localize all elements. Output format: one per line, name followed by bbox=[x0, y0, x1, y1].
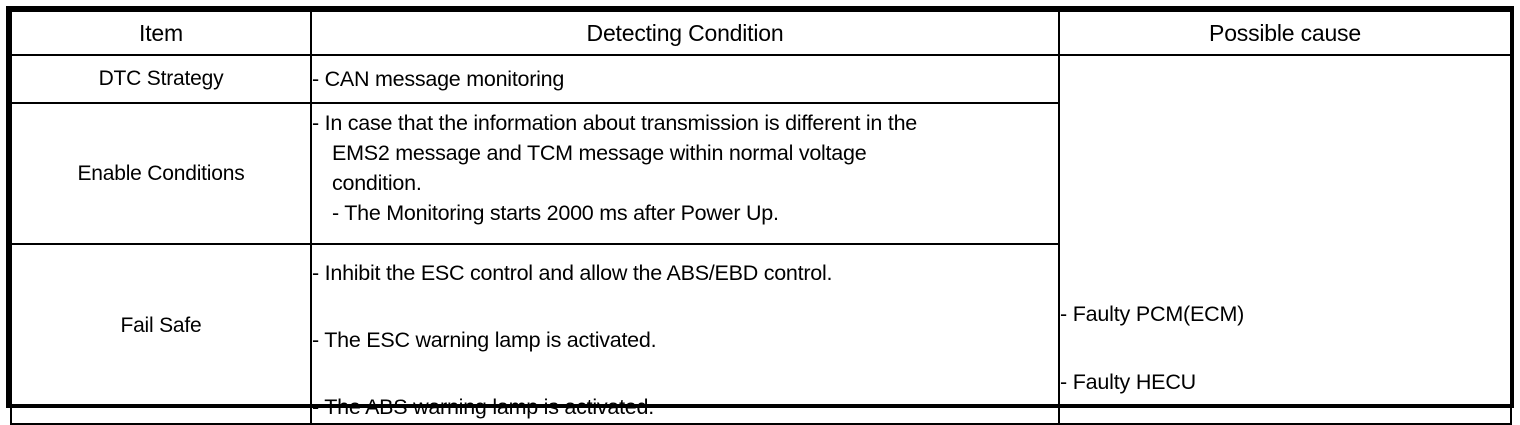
column-header-detecting-condition: Detecting Condition bbox=[311, 11, 1059, 55]
possible-cause-line: - Faulty PCM(ECM) bbox=[1060, 299, 1510, 329]
row-label-dtc-strategy: DTC Strategy bbox=[11, 55, 311, 103]
condition-line: - The ABS warning lamp is activated. bbox=[312, 392, 1058, 423]
possible-cause-list: - Faulty PCM(ECM) - Faulty HECU bbox=[1060, 299, 1510, 397]
column-header-possible-cause: Possible cause bbox=[1059, 11, 1511, 55]
column-header-item: Item bbox=[11, 11, 311, 55]
cell-fail-safe-condition: - Inhibit the ESC control and allow the … bbox=[311, 244, 1059, 424]
table-row-dtc-strategy: DTC Strategy - CAN message monitoring - … bbox=[11, 55, 1511, 103]
row-label-enable-conditions-text: Enable Conditions bbox=[12, 162, 310, 186]
condition-line: - CAN message monitoring bbox=[312, 64, 1058, 94]
table-header-row: Item Detecting Condition Possible cause bbox=[11, 11, 1511, 55]
possible-cause-line: - Faulty HECU bbox=[1060, 367, 1510, 397]
row-label-fail-safe: Fail Safe bbox=[11, 244, 311, 424]
column-header-possible-cause-label: Possible cause bbox=[1060, 12, 1510, 54]
cell-possible-cause: - Faulty PCM(ECM) - Faulty HECU bbox=[1059, 55, 1511, 424]
dtc-diagnostic-table: Item Detecting Condition Possible cause … bbox=[6, 6, 1514, 408]
column-header-item-label: Item bbox=[12, 12, 310, 54]
column-header-detecting-condition-label: Detecting Condition bbox=[312, 12, 1058, 54]
cell-enable-conditions-condition: - In case that the information about tra… bbox=[311, 103, 1059, 244]
condition-line: EMS2 message and TCM message within norm… bbox=[312, 138, 1058, 168]
condition-line: - The Monitoring starts 2000 ms after Po… bbox=[312, 198, 1058, 228]
condition-line: - In case that the information about tra… bbox=[312, 108, 1058, 138]
condition-line: - Inhibit the ESC control and allow the … bbox=[312, 258, 1058, 289]
row-label-enable-conditions: Enable Conditions bbox=[11, 103, 311, 244]
diagnostic-table: Item Detecting Condition Possible cause … bbox=[10, 10, 1512, 425]
row-label-fail-safe-text: Fail Safe bbox=[12, 314, 310, 338]
cell-dtc-strategy-condition: - CAN message monitoring bbox=[311, 55, 1059, 103]
condition-line: condition. bbox=[312, 168, 1058, 198]
condition-line: - The ESC warning lamp is activated. bbox=[312, 325, 1058, 356]
row-label-dtc-strategy-text: DTC Strategy bbox=[12, 67, 310, 91]
